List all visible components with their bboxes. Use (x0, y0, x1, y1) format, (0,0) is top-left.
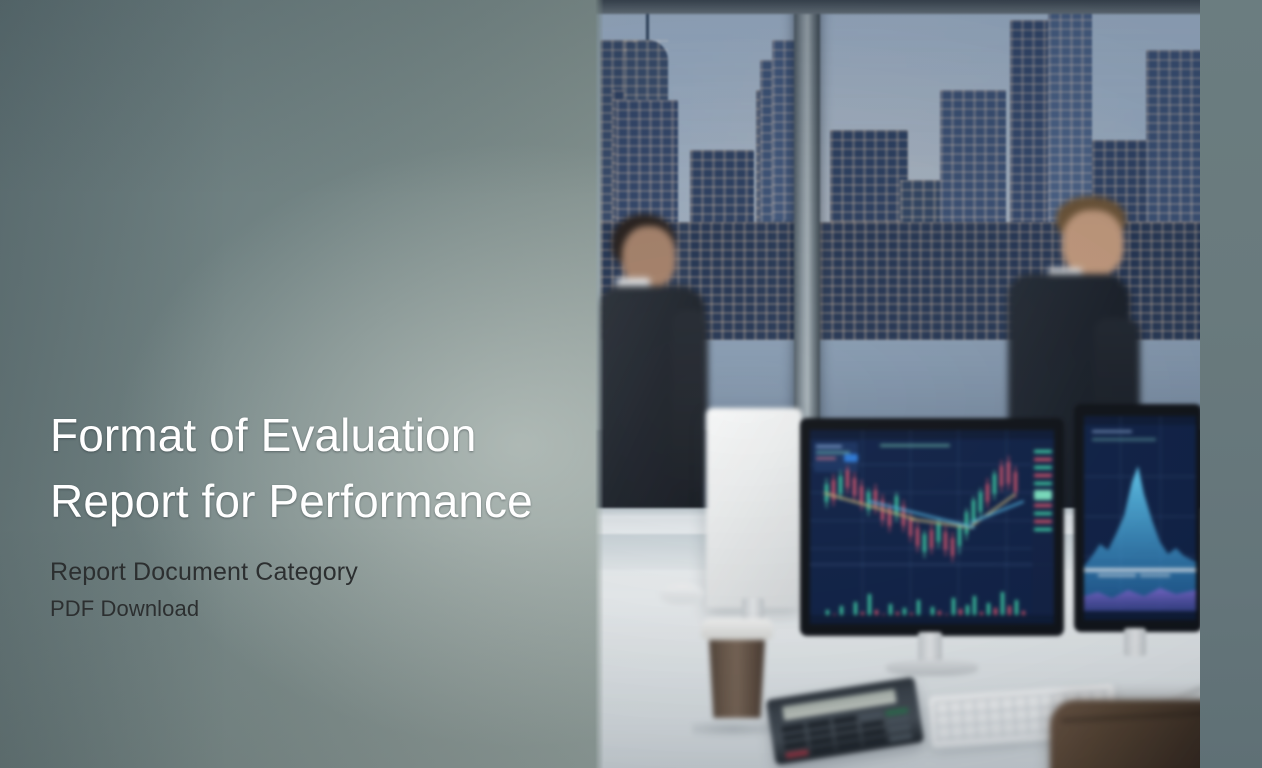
page-title: Format of Evaluation Report for Performa… (50, 402, 570, 534)
right-color-band (1200, 0, 1262, 768)
coffee-cup (706, 618, 768, 730)
title-panel (0, 0, 604, 768)
area-chart-screen (1084, 416, 1196, 620)
monitor-right (1074, 404, 1202, 632)
document-category-label: Report Document Category (50, 556, 358, 588)
monitor-center-foot (886, 660, 978, 676)
monitor-right-stand (1124, 628, 1146, 656)
office-chair (1050, 700, 1202, 768)
mouse (660, 584, 704, 604)
pdf-download-link[interactable]: PDF Download (50, 594, 199, 624)
panel-shading (0, 0, 604, 768)
monitor-rear-white (706, 408, 802, 608)
trading-chart-screen (810, 430, 1054, 624)
slide-canvas: Format of Evaluation Report for Performa… (0, 0, 1262, 768)
monitor-center (800, 418, 1064, 636)
